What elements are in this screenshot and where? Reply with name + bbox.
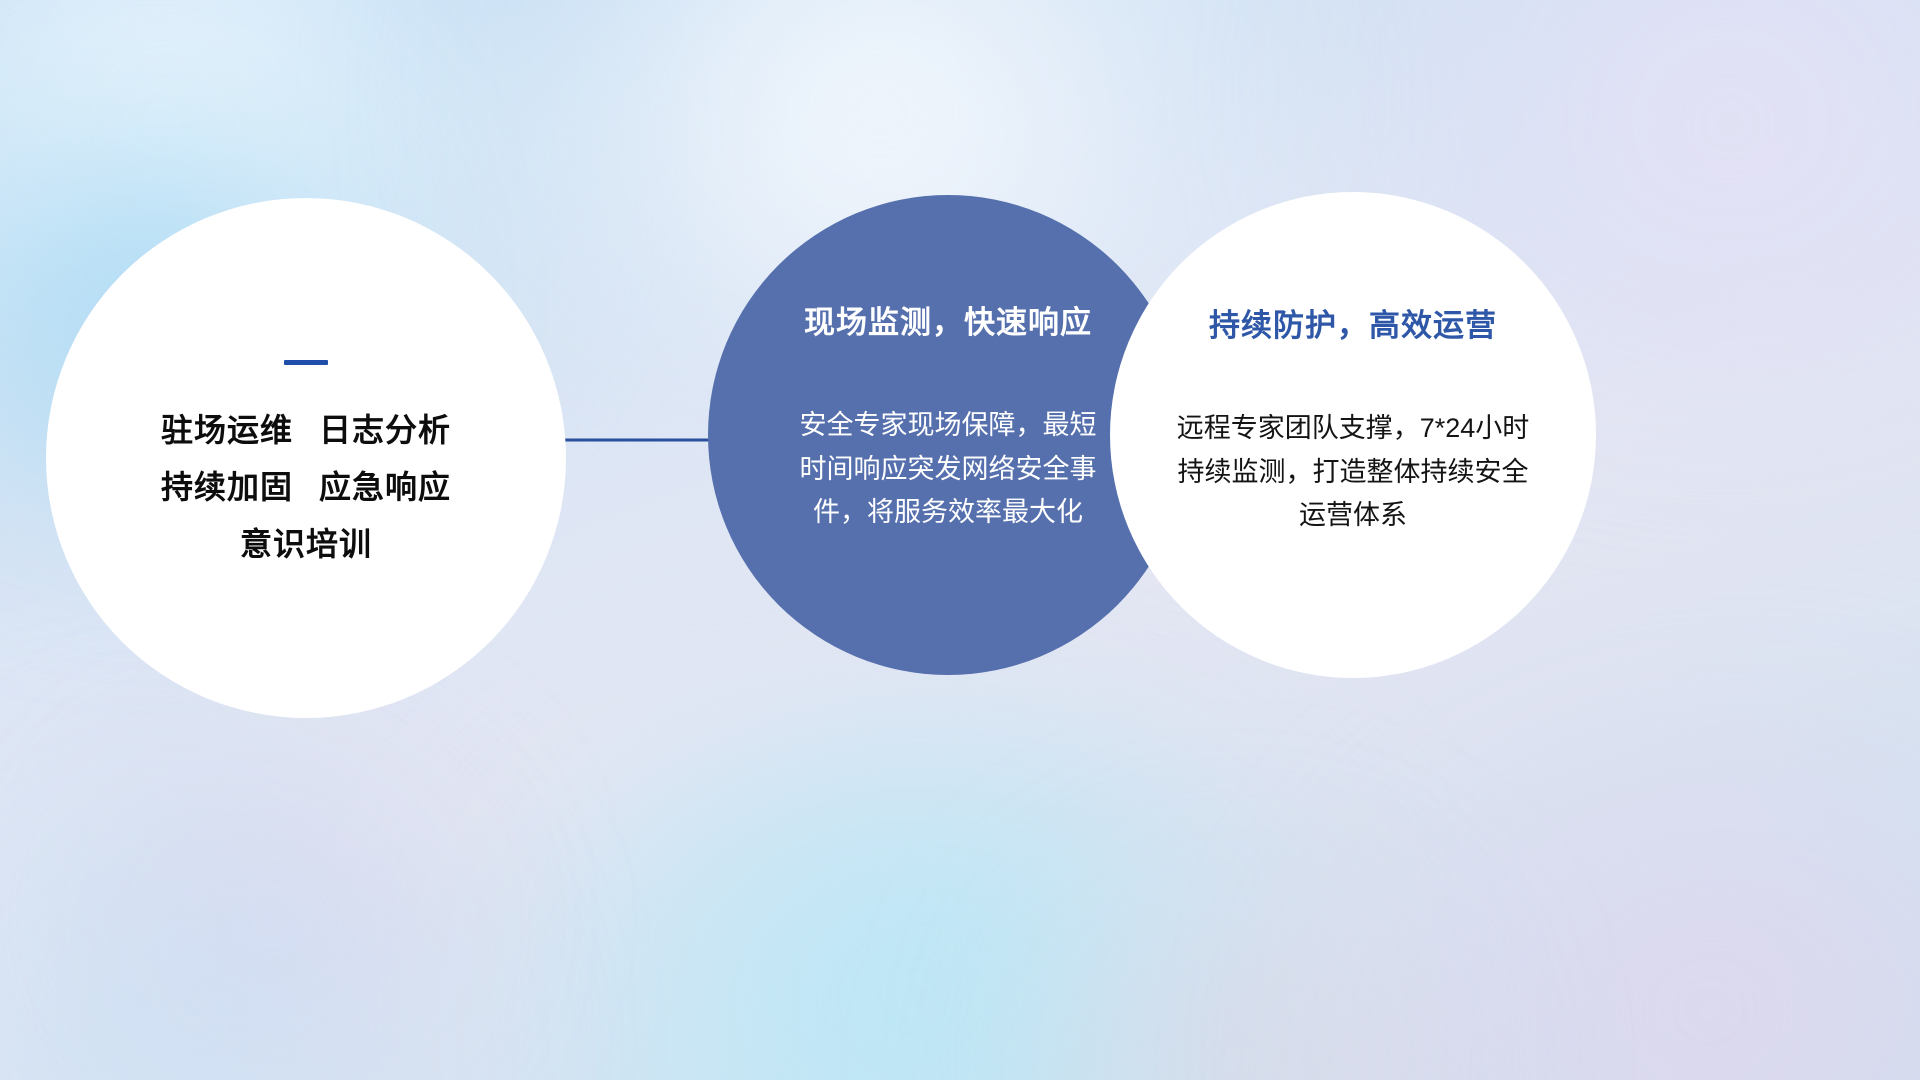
keyword-onsite-ops: 驻场运维 — [161, 412, 293, 448]
middle-circle-body: 安全专家现场保障，最短时间响应突发网络安全事件，将服务效率最大化 — [798, 404, 1098, 535]
right-circle-body: 远程专家团队支撑，7*24小时持续监测，打造整体持续安全运营体系 — [1173, 407, 1533, 538]
left-circle-keyword-list: 驻场运维日志分析 持续加固应急响应 意识培训 — [161, 413, 451, 563]
right-circle-card[interactable]: 持续防护，高效运营 远程专家团队支撑，7*24小时持续监测，打造整体持续安全运营… — [1110, 192, 1596, 678]
left-circle-line-3: 意识培训 — [240, 527, 372, 562]
keyword-emergency-response: 应急响应 — [319, 469, 451, 505]
right-circle-title: 持续防护，高效运营 — [1209, 300, 1497, 345]
keyword-log-analysis: 日志分析 — [319, 412, 451, 448]
left-circle-card[interactable]: 驻场运维日志分析 持续加固应急响应 意识培训 — [46, 198, 566, 718]
middle-circle-title: 现场监测，快速响应 — [804, 297, 1092, 342]
left-circle-line-1: 驻场运维日志分析 — [161, 413, 451, 448]
left-circle-content: 驻场运维日志分析 持续加固应急响应 意识培训 — [46, 198, 566, 718]
left-circle-line-2: 持续加固应急响应 — [161, 470, 451, 505]
keyword-awareness-training: 意识培训 — [240, 526, 372, 562]
divider-dash — [284, 360, 328, 365]
right-circle-content: 持续防护，高效运营 远程专家团队支撑，7*24小时持续监测，打造整体持续安全运营… — [1110, 192, 1596, 678]
slide-canvas: 驻场运维日志分析 持续加固应急响应 意识培训 现场监测，快速响应 安全专家现场保… — [0, 0, 1920, 1080]
keyword-continuous-hardening: 持续加固 — [161, 469, 293, 505]
